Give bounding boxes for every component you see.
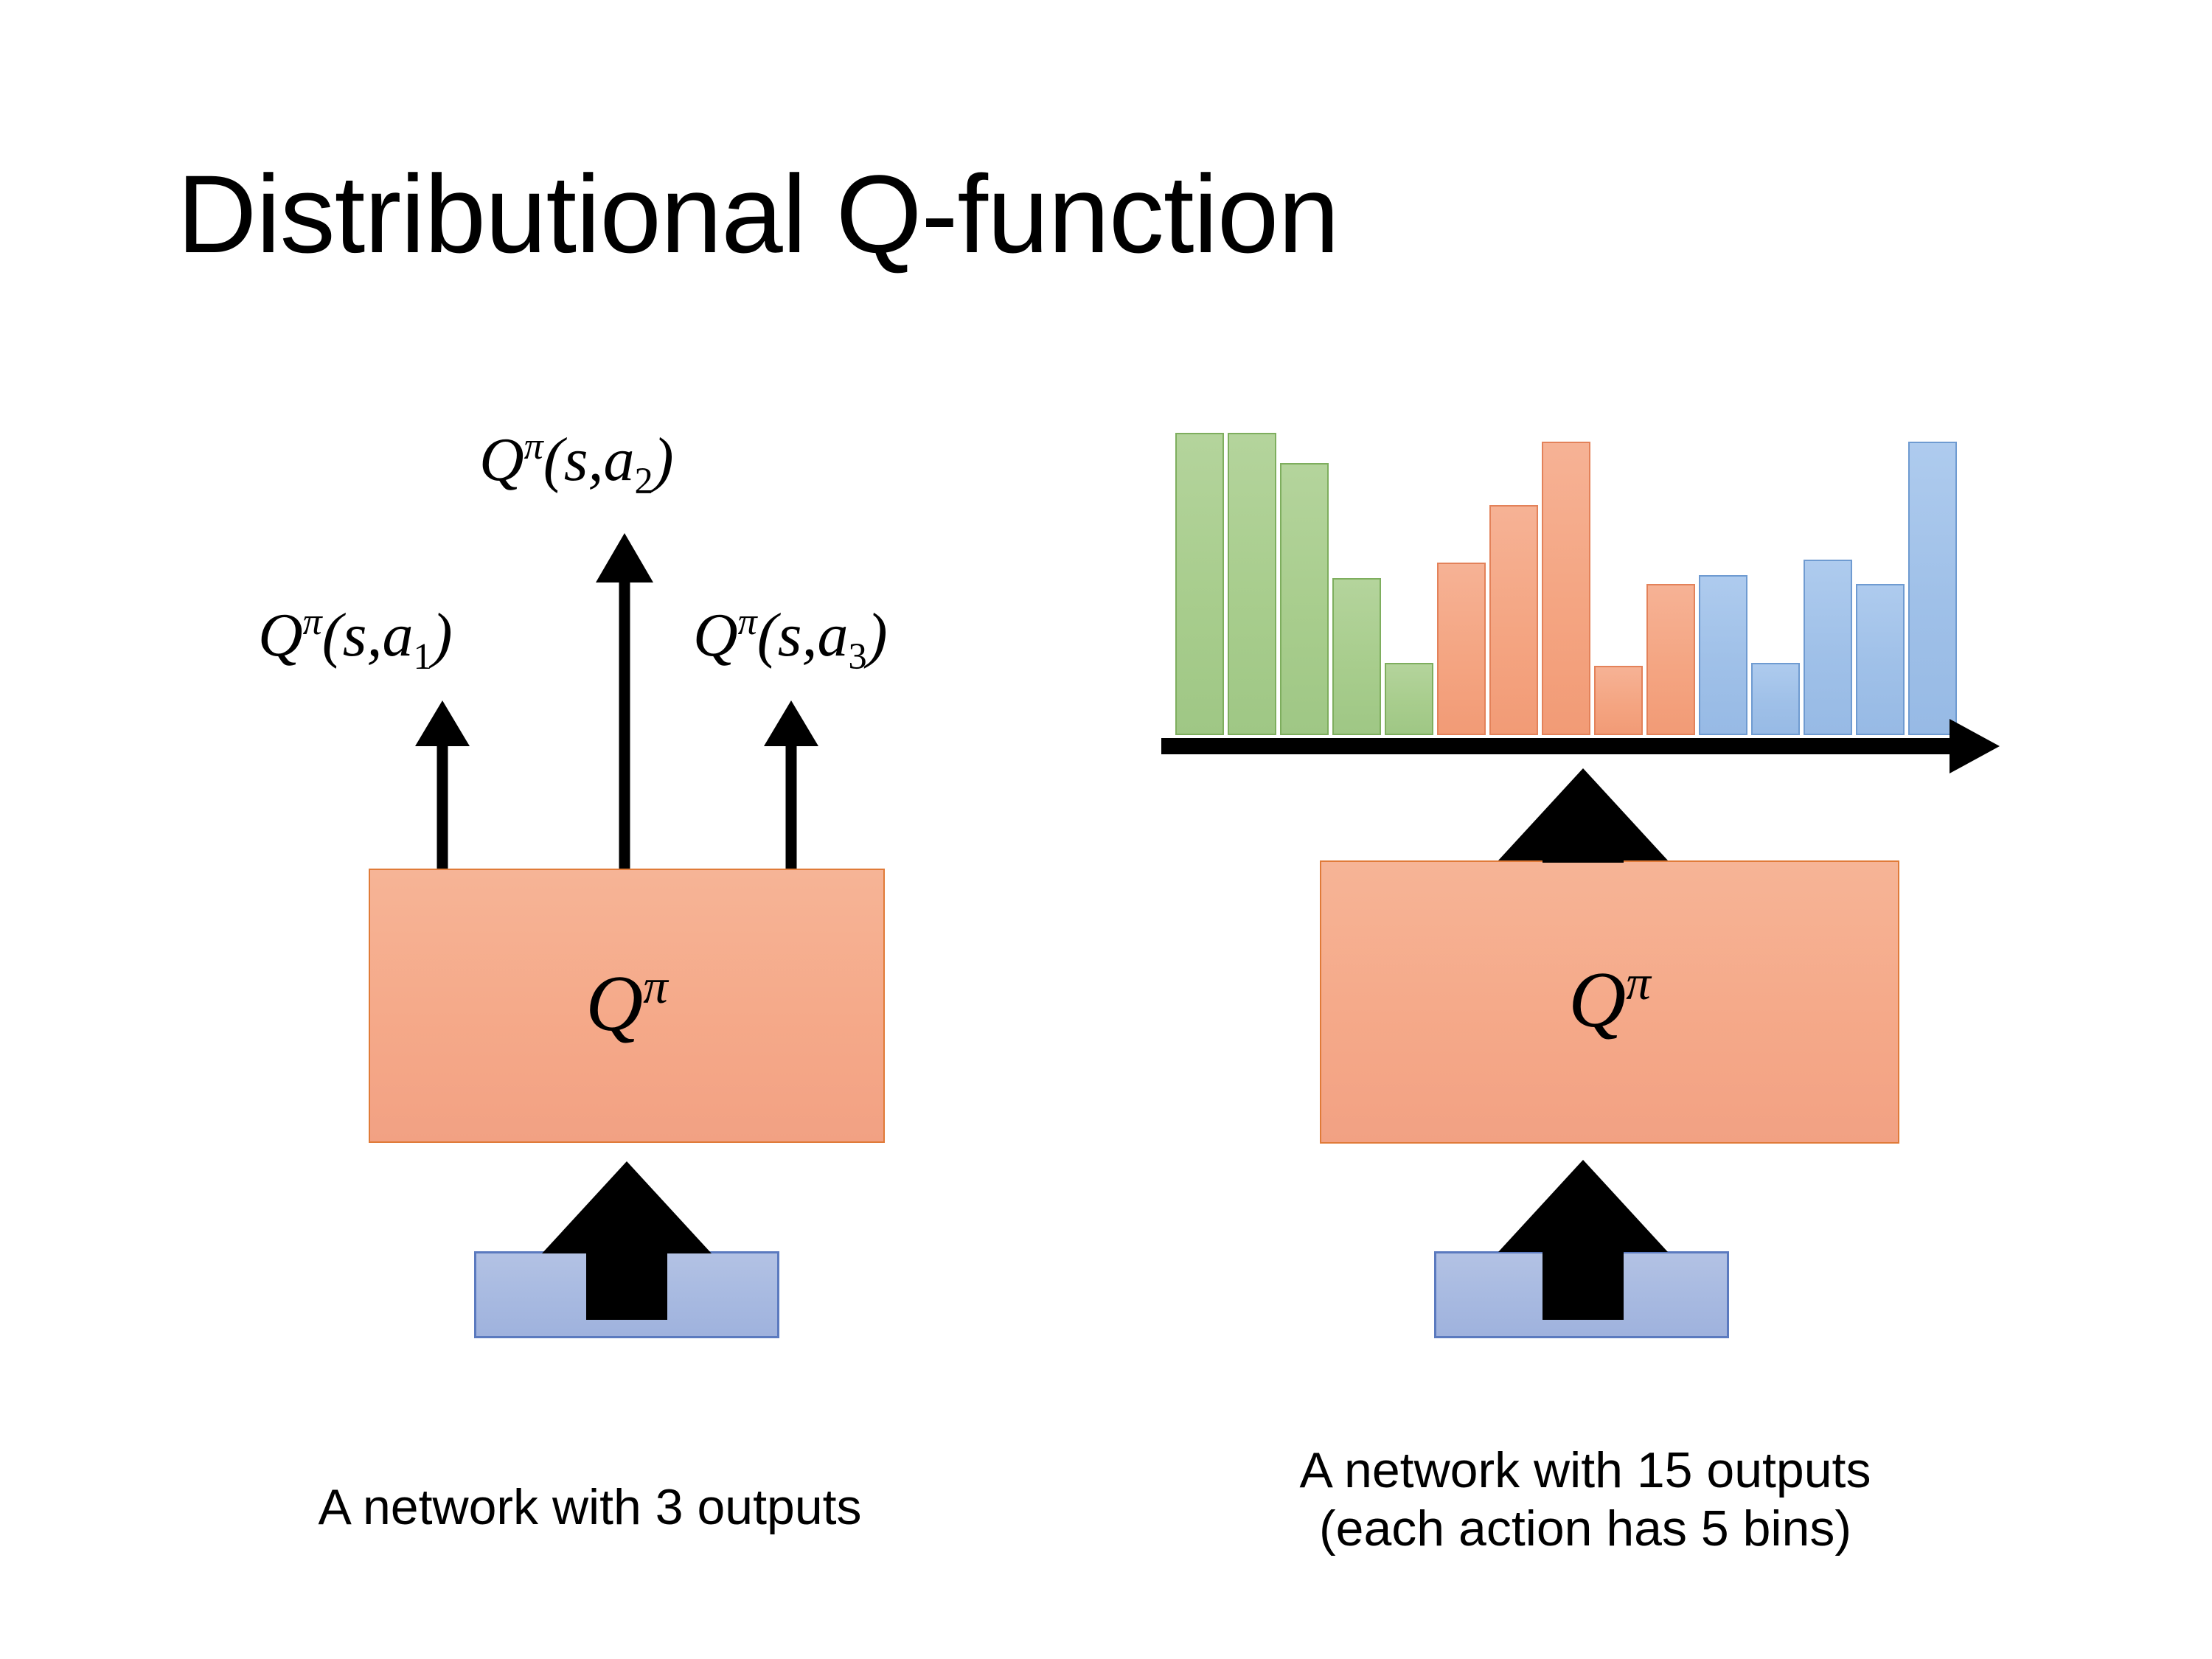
distribution-histogram [1175, 433, 1957, 735]
pi-superscript: π [1626, 956, 1651, 1010]
right-diagram-caption: A network with 15 outputs (each action h… [1158, 1441, 2013, 1558]
output-label-q-pi-s-a2: Qπ(s,a2) [479, 428, 674, 499]
left-state-box[interactable]: s [474, 1251, 779, 1338]
q-symbol: Q [258, 601, 303, 669]
right-q-network-box[interactable]: Qπ [1320, 860, 1899, 1144]
left-state-label: s [615, 1271, 639, 1318]
histogram-bar [1489, 505, 1538, 735]
histogram-bar [1542, 442, 1590, 735]
pi-superscript: π [738, 601, 757, 643]
q-symbol: Q [693, 601, 738, 669]
slide-canvas: Distributional Q-function Qπ(s,a1) Qπ(s,… [0, 0, 2212, 1659]
histogram-bar [1228, 433, 1276, 735]
pi-superscript: π [303, 601, 322, 643]
output-arrow-a2-icon [596, 533, 653, 869]
output-label-q-pi-s-a3: Qπ(s,a3) [693, 603, 888, 675]
histogram-bar [1804, 560, 1852, 735]
q-close-paren: ) [653, 425, 674, 494]
right-q-network-label: Qπ [1568, 959, 1651, 1040]
right-state-label: s [1570, 1271, 1593, 1318]
left-q-network-box[interactable]: Qπ [369, 869, 885, 1143]
pi-superscript: π [524, 425, 543, 467]
right-output-block-arrow-icon [1498, 768, 1668, 863]
histogram-bar [1699, 575, 1747, 735]
histogram-bar [1437, 563, 1486, 735]
output-arrow-a1-icon [415, 700, 470, 869]
histogram-bar [1385, 663, 1433, 735]
q-close-paren: ) [867, 601, 888, 669]
histogram-bar [1646, 584, 1695, 735]
left-q-network-label: Qπ [585, 962, 668, 1044]
left-diagram-caption: A network with 3 outputs [184, 1478, 995, 1537]
output-arrow-a3-icon [764, 700, 818, 869]
histogram-bar [1280, 463, 1329, 735]
histogram-bar [1856, 584, 1905, 735]
q-args: (s,a [543, 425, 635, 494]
histogram-bar [1175, 433, 1224, 735]
histogram-bar [1594, 666, 1643, 735]
histogram-bar [1751, 663, 1800, 735]
output-label-q-pi-s-a1: Qπ(s,a1) [258, 603, 453, 675]
histogram-bar [1908, 442, 1957, 735]
action-index: 2 [634, 460, 653, 501]
action-index: 3 [848, 636, 866, 677]
right-state-box[interactable]: s [1434, 1251, 1729, 1338]
action-index: 1 [413, 636, 431, 677]
q-symbol: Q [479, 425, 524, 494]
page-title: Distributional Q-function [177, 159, 1339, 269]
q-args: (s,a [322, 601, 414, 669]
pi-superscript: π [643, 959, 668, 1014]
histogram-bar [1332, 578, 1381, 735]
q-close-paren: ) [432, 601, 453, 669]
q-args: (s,a [757, 601, 849, 669]
